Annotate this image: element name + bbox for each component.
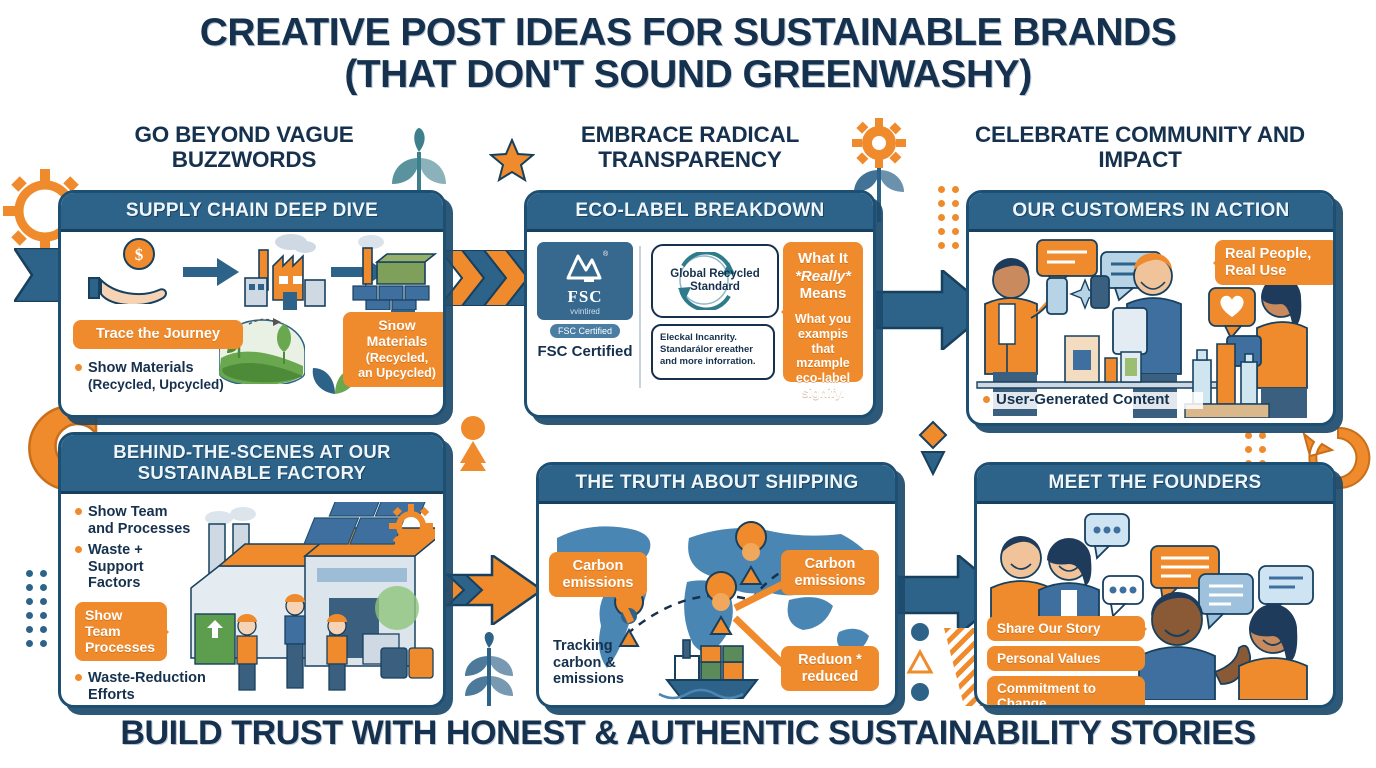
pill-line-1: Show xyxy=(378,317,415,333)
heart-bubble-icon xyxy=(1209,288,1255,338)
column-heading-go-beyond-vague-buzzwords: GO BEYOND VAGUE BUZZWORDS xyxy=(74,122,414,172)
pill-carbon-emissions-left[interactable]: Carbon emissions xyxy=(549,552,647,596)
bullet-text: Show Team and Processes xyxy=(88,504,195,537)
card-body: $ xyxy=(61,232,443,412)
bullet-dot xyxy=(75,674,82,681)
column-heading-embrace-radical-transparency: EMBRACE RADICAL TRANSPARENCY xyxy=(520,122,860,172)
card-title: SUPPLY CHAIN DEEP DIVE xyxy=(61,193,443,232)
arrow-right-icon-1 xyxy=(183,258,239,286)
bullet-text: Waste + Support Factors xyxy=(88,542,185,591)
card-title: MEET THE FOUNDERS xyxy=(977,465,1333,504)
dot-grid-right-top xyxy=(938,186,959,249)
fsc-caption: FSC Certified xyxy=(537,344,633,361)
pill-show-team-processes[interactable]: Show Team Processes xyxy=(75,602,167,661)
pill-show-materials[interactable]: Show Materials (Recycled, an Upcycled) xyxy=(343,312,446,387)
fsc-badge-title: FSC xyxy=(541,287,629,307)
global-recycled-standard-box: Global Recycled Standard xyxy=(651,244,779,318)
dot-grid-left xyxy=(26,570,47,647)
footer-banner: BUILD TRUST WITH HONEST & AUTHENTIC SUST… xyxy=(0,714,1376,753)
card-truth-about-shipping[interactable]: THE TRUTH ABOUT SHIPPING xyxy=(536,462,898,708)
hand-coin-icon: $ xyxy=(81,238,173,304)
pill-commitment-to-change[interactable]: Commitment to Change xyxy=(987,676,1145,708)
callout-what-it-really-means[interactable]: What It *Really* Means What you exampis … xyxy=(783,242,863,382)
card-body: Show Team and Processes Waste + Support … xyxy=(61,494,443,700)
bullet-dot xyxy=(75,508,82,515)
card-supply-chain-deep-dive[interactable]: SUPPLY CHAIN DEEP DIVE $ xyxy=(58,190,446,418)
pill-carbon-emissions-right[interactable]: Carbon emissions xyxy=(781,550,879,594)
card-our-customers-in-action[interactable]: OUR CUSTOMERS IN ACTION xyxy=(966,190,1336,426)
pill-line-2: emissions xyxy=(795,573,866,589)
caption-tracking-carbon-emissions: Tracking carbon & emissions xyxy=(553,638,637,688)
card-body: ® FSC vvintired FSC Certified FSC Certif… xyxy=(527,232,873,412)
pill-line-3: (Recycled, xyxy=(366,351,429,365)
star-icon xyxy=(489,138,535,182)
pill-line-1: Carbon xyxy=(805,556,856,572)
card-meet-the-founders[interactable]: MEET THE FOUNDERS xyxy=(974,462,1336,708)
pill-line-2: Materials xyxy=(367,333,428,349)
pill-line-2: emissions xyxy=(563,575,634,591)
speech-bubble-icon-dots-1 xyxy=(1085,514,1129,558)
eco-label-note-box: Eleckal Incanrity. Standarálor ereather … xyxy=(651,324,775,380)
factory-icon xyxy=(243,232,329,310)
bullet-dot xyxy=(983,396,990,403)
card-body: Real People, Real Use User-Generated Con… xyxy=(969,232,1333,420)
fsc-tree-icon: ® xyxy=(562,248,608,282)
pill-line-1: Reduon * xyxy=(798,652,862,668)
bullet-dot xyxy=(75,364,82,371)
card-title: OUR CUSTOMERS IN ACTION xyxy=(969,193,1333,232)
bullet-waste-reduction-efforts: Waste-Reduction Efforts xyxy=(75,670,215,703)
gear-icon-small xyxy=(389,504,433,548)
card-body: Share Our Story Personal Values Commitme… xyxy=(977,504,1333,702)
page-title: CREATIVE POST IDEAS FOR SUSTAINABLE BRAN… xyxy=(0,12,1376,96)
callout-heading-line3: Means xyxy=(800,285,847,302)
fsc-label-group: ® FSC vvintired FSC Certified FSC Certif… xyxy=(537,242,633,361)
pill-real-people-real-use[interactable]: Real People, Real Use xyxy=(1215,240,1336,284)
infographic-canvas: CREATIVE POST IDEAS FOR SUSTAINABLE BRAN… xyxy=(0,0,1376,768)
pill-personal-values[interactable]: Personal Values xyxy=(987,646,1145,671)
card-body: Carbon emissions Carbon emissions Reduon… xyxy=(539,504,895,702)
bullet-dot xyxy=(75,546,82,553)
card-title: THE TRUTH ABOUT SHIPPING xyxy=(539,465,895,504)
callout-heading-line2: *Really* xyxy=(795,268,851,285)
plant-sprout-icon-2 xyxy=(460,632,518,706)
bullet-user-generated-content: User-Generated Content xyxy=(983,392,1203,409)
page-title-line2: (THAT DON'T SOUND GREENWASHY) xyxy=(0,54,1376,96)
bullet-show-materials: Show Materials (Recycled, Upcycled) xyxy=(75,360,265,392)
callout-heading-line1: What It xyxy=(798,250,848,267)
card-title: ECO-LABEL BREAKDOWN xyxy=(527,193,873,232)
fsc-certified-chip: FSC Certified xyxy=(550,324,620,338)
node-marker-icon xyxy=(455,415,491,471)
card-eco-label-breakdown[interactable]: ECO-LABEL BREAKDOWN ® FSC vvintired FSC … xyxy=(524,190,876,418)
pill-line-4: an Upcycled) xyxy=(358,366,436,380)
pill-share-our-story[interactable]: Share Our Story xyxy=(987,616,1145,641)
callout-heading: What It *Really* Means xyxy=(789,250,857,302)
svg-text:$: $ xyxy=(135,245,144,264)
bullet-waste-support-factors: Waste + Support Factors xyxy=(75,542,185,591)
column-heading-celebrate-community-and-impact: CELEBRATE COMMUNITY AND IMPACT xyxy=(940,122,1340,172)
pill-line-2: Real Use xyxy=(1225,263,1286,279)
fsc-badge-subtitle: vvintired xyxy=(541,307,629,316)
bullet-text: User-Generated Content xyxy=(996,392,1169,409)
pill-line-1: Show xyxy=(85,607,122,623)
svg-text:®: ® xyxy=(603,250,608,258)
card-title: BEHIND-THE-SCENES AT OUR SUSTAINABLE FAC… xyxy=(61,435,443,494)
pill-line-2: Team xyxy=(85,623,121,639)
pill-line-2: reduced xyxy=(802,669,858,685)
pill-line-1: Real People, xyxy=(1225,246,1311,262)
pill-line-3: Processes xyxy=(85,639,155,655)
grs-label: Global Recycled Standard xyxy=(653,268,777,294)
pill-reduction[interactable]: Reduon * reduced xyxy=(781,646,879,690)
card-behind-the-scenes-factory[interactable]: BEHIND-THE-SCENES AT OUR SUSTAINABLE FAC… xyxy=(58,432,446,708)
divider xyxy=(639,246,641,388)
diamond-node-icon xyxy=(918,420,948,476)
bullet-show-team-and-processes: Show Team and Processes xyxy=(75,504,195,537)
speech-bubble-icon-dots-2 xyxy=(1103,576,1143,616)
bullet-text: Show Materials xyxy=(88,360,194,376)
speech-bubble-icon-blue-mid xyxy=(1199,574,1253,628)
triangle-node-icon xyxy=(906,622,934,708)
callout-body: What you exampis that mzample eco-label … xyxy=(789,312,857,401)
solar-farm-icon xyxy=(349,232,441,310)
fsc-badge: ® FSC vvintired xyxy=(537,242,633,320)
pill-line-1: Carbon xyxy=(573,558,624,574)
pill-trace-the-journey[interactable]: Trace the Journey xyxy=(73,320,243,348)
page-title-line1: CREATIVE POST IDEAS FOR SUSTAINABLE BRAN… xyxy=(200,11,1176,54)
bullet-text: Waste-Reduction Efforts xyxy=(88,670,215,703)
bullet-subtext: (Recycled, Upcycled) xyxy=(88,377,224,392)
